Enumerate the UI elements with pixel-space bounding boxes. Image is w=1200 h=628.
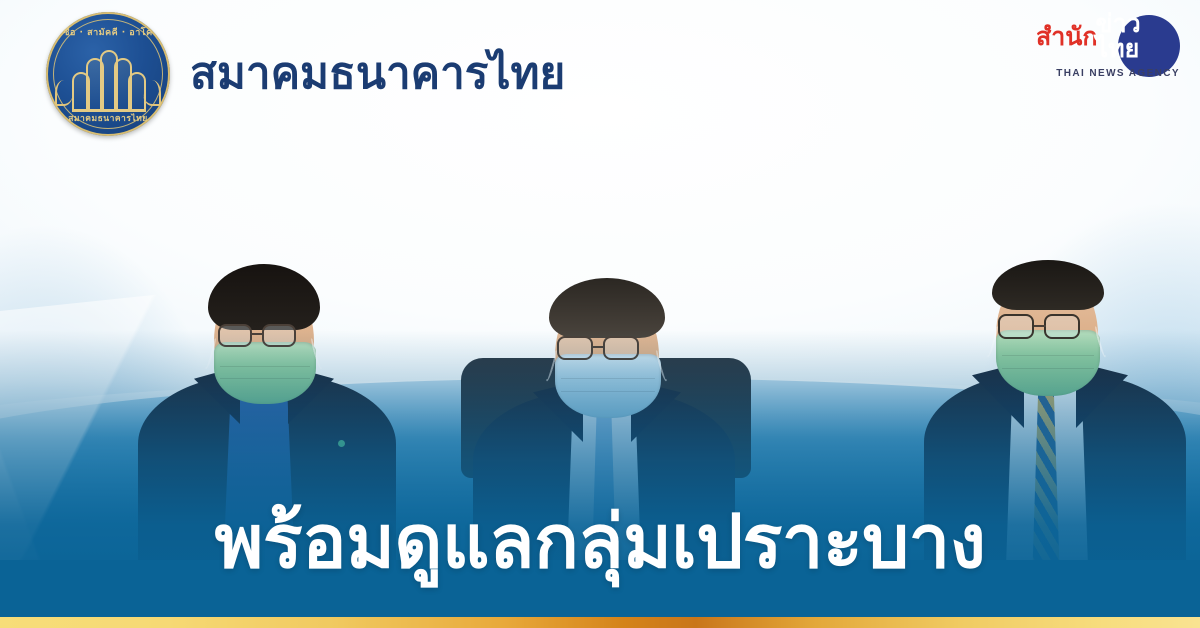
person-center-hair [549,278,665,338]
tna-logo-row: สำนัก ข่าวไทย [1036,12,1186,64]
tna-text-white: ข่าวไทย [1096,11,1174,65]
seal-bottom-name: สมาคมธนาคารไทย [46,111,170,125]
seal-temple-motif-icon [72,40,144,112]
person-right-hair [992,260,1104,310]
headline-text: พร้อมดูแลกลุ่มเปราะบาง [0,497,1200,587]
association-name: สมาคมธนาคารไทย [190,52,565,96]
tna-text-red: สำนัก [1036,24,1098,53]
person-right-eyeglass-bridge [1034,325,1046,327]
tna-subtitle: THAI NEWS AGENCY [1036,68,1180,79]
association-logo-block: ซื่อ · สามัคคี · อาโค สมาคมธนาคารไทย สมา… [46,12,565,136]
person-left-hair [208,264,320,330]
thai-bankers-association-seal-icon: ซื่อ · สามัคคี · อาโค สมาคมธนาคารไทย [46,12,170,136]
gold-accent-bar [0,617,1200,628]
seal-top-motto: ซื่อ · สามัคคี · อาโค [46,25,170,39]
poster-canvas: พร้อมดูแลกลุ่มเปราะบาง ซื่อ · สามัคคี · … [0,0,1200,628]
thai-news-agency-logo-icon: สำนัก ข่าวไทย THAI NEWS AGENCY [1036,12,1186,90]
seal-flourish-right [143,80,161,106]
seal-flourish-left [55,80,73,106]
